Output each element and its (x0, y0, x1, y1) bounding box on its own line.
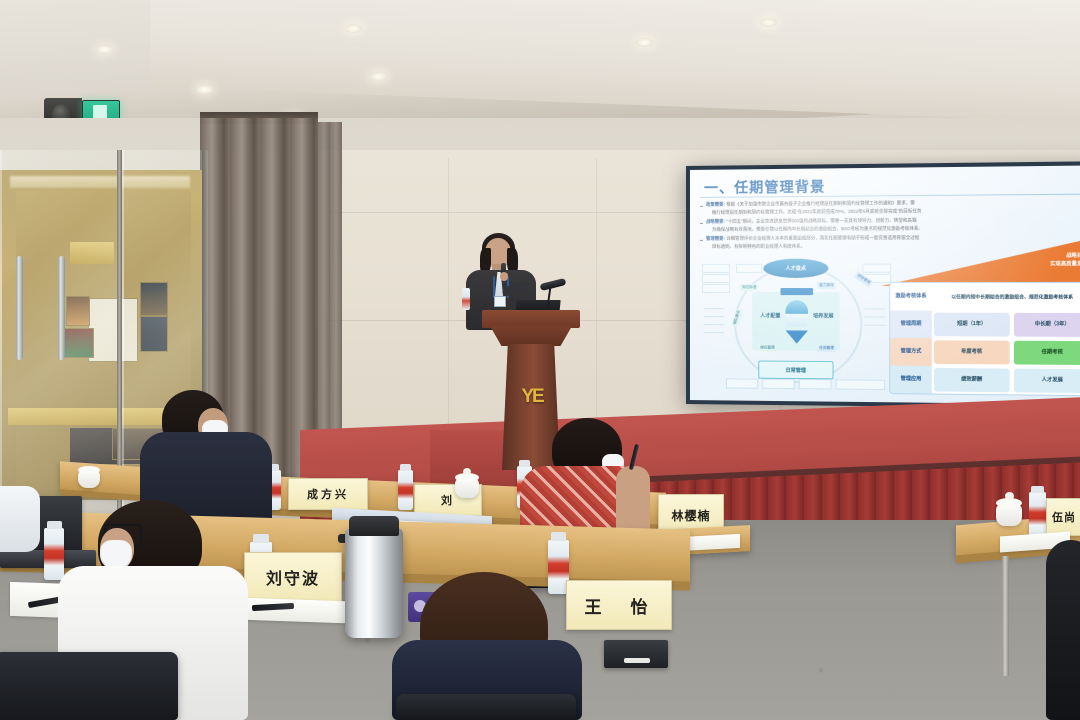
downlight (370, 72, 387, 81)
ghost-line (704, 324, 724, 325)
placard-name: 成方兴 (307, 486, 349, 502)
conference-room-photo: 一、任期管理背景 政策需要: 根据《关于加强市管企业市属各级子企业推行经理层任期… (0, 0, 1080, 720)
projection-screen: 一、任期管理背景 政策需要: 根据《关于加强市管企业市属各级子企业推行经理层任期… (686, 161, 1080, 408)
bottle-cap (551, 532, 566, 541)
podium-bevel (490, 326, 572, 346)
diagram-tag: 继任管理 (758, 344, 777, 351)
slide-table: 激励考核体系 以任期内短中长期结合的激励组合、规范化激励考核体系 管理周期 短期… (889, 282, 1080, 396)
pen (624, 658, 650, 663)
downlight (196, 85, 213, 94)
wall-seam-v (596, 158, 597, 458)
slide-bullet-3-text2: 目标透明、有鲜明特色的职业经理人制度体系。 (712, 244, 805, 251)
slide-surface: 一、任期管理背景 政策需要: 根据《关于加强市管企业市属各级子企业推行经理层任期… (690, 165, 1080, 404)
table-cell: 任期考核 (1014, 341, 1080, 365)
water-bottle (398, 470, 413, 510)
diagram-tag: 任用管理 (817, 345, 836, 352)
bottle-cap (1031, 486, 1044, 493)
thermos-lid (349, 516, 399, 536)
chair[interactable] (396, 694, 576, 720)
table-row-label: 管理方式 (890, 338, 932, 366)
attendee-right-edge (1046, 540, 1080, 720)
wall-seam-v (448, 158, 449, 458)
downlight (636, 38, 653, 47)
diagram-tag: 岗位标准 (740, 284, 759, 291)
water-bottle (1029, 492, 1046, 538)
podium-logo: YE (519, 386, 545, 408)
laptop[interactable] (604, 640, 668, 668)
speaker-badge (494, 296, 506, 307)
table-header-label: 激励考核体系 (890, 283, 932, 311)
banner-text: 战略目标 实现高质量发展 (1050, 253, 1080, 269)
banner-line-2: 实现高质量发展 (1050, 261, 1080, 269)
placard-name: 刘守波 (266, 565, 320, 589)
bottle-cap (47, 521, 62, 529)
attendee-far-left (0, 486, 40, 552)
slide-bullet-1-text2: 推行经理层任期制和契约化管理工作，达成"在2021年底前完成70%，2022年6… (712, 208, 922, 216)
ghost-line (864, 308, 885, 309)
diagram-tag: 能力测评 (817, 282, 836, 289)
slide-bullet-2-label: 战略需要: "十四五"期间，主业竞进跻身世界500强的战略目标，需要一支具有领导… (706, 218, 917, 226)
downlight (345, 24, 362, 33)
ghost-box (702, 274, 730, 283)
bullet-text: 根据《关于加强市管企业市属各级子企业推行经理层任期制和契约化管理工作的通知》要求… (726, 200, 915, 207)
placard-name: 林樱楠 (671, 507, 710, 524)
placard-liushoubo: 刘守波 (244, 552, 342, 602)
placard-name: 伍尚 (1052, 509, 1076, 525)
teacup-knob (463, 468, 471, 475)
bullet-marker (700, 240, 703, 241)
slide-bullet-1-label: 政策需要: 根据《关于加强市管企业市属各级子企业推行经理层任期制和契约化管理工作… (706, 200, 915, 208)
ghost-box (799, 379, 832, 389)
table-cell: 短期（1年） (934, 313, 1010, 337)
table-header-row: 激励考核体系 以任期内短中长期结合的激励组合、规范化激励考核体系 (890, 283, 1080, 311)
ghost-box (726, 378, 758, 388)
downlight (96, 45, 113, 54)
ghost-box (762, 379, 794, 389)
table-cell: 绩效薪酬 (934, 368, 1010, 392)
ghost-line (864, 317, 885, 318)
table-header-value: 以任期内短中长期结合的激励组合、规范化激励考核体系 (934, 285, 1080, 309)
bullet-label: 政策需要: (706, 202, 725, 207)
bottle-cap (253, 534, 269, 543)
ghost-line (864, 325, 885, 326)
table-cell: 年度考核 (934, 340, 1010, 364)
podium-top (482, 310, 580, 328)
placard-wushang: 伍尚 (1046, 498, 1080, 536)
banner-line-1: 战略目标 (1050, 253, 1080, 261)
thermos-flask (345, 528, 403, 638)
ghost-box (702, 284, 730, 293)
placard-wangyi: 王 怡 (566, 580, 672, 630)
table-row-label: 管理应用 (890, 366, 932, 394)
ghost-box (836, 379, 885, 390)
podium-bottle (462, 288, 470, 310)
diagram-node-top: 人才盘点 (763, 259, 828, 278)
bullet-text: "十四五"期间，主业竞进跻身世界500强的战略目标，需要一支具有领导力、创新力、… (726, 218, 916, 224)
ghost-line (704, 332, 724, 333)
teacup-knob (1005, 492, 1014, 500)
door-handle[interactable] (16, 256, 23, 360)
strategy-banner: 战略目标 实现高质量发展 (881, 238, 1080, 286)
ghost-box (702, 264, 730, 273)
ghost-line (704, 308, 724, 309)
placard-name: 王 怡 (585, 593, 654, 618)
diagram-bar-top (781, 288, 814, 295)
ghost-box (736, 264, 762, 273)
table-leg (1002, 556, 1009, 676)
speaker-hand (500, 272, 508, 281)
bullet-label: 战略需要: (706, 219, 725, 224)
bottle-cap (400, 464, 411, 471)
slide-title: 一、任期管理背景 (704, 177, 825, 198)
ghost-line (704, 316, 724, 317)
door-handle[interactable] (58, 256, 65, 360)
downlight (760, 18, 777, 27)
slide-bullet-2-text2: 为确保战略有效落地，需要在管以任期内中长期结合的激励组合、BSC考核为重点的规范… (712, 226, 920, 234)
table-row: 管理应用 绩效薪酬 人才发展 (890, 366, 1080, 396)
table-cell: 人才发展 (1014, 369, 1080, 394)
bottle-cap (519, 460, 530, 467)
diagram-node-left: 人才配置 (752, 312, 788, 319)
water-bottle (44, 528, 64, 580)
table-cell: 中长期（3年） (1014, 313, 1080, 337)
table-row-label: 管理周期 (890, 310, 932, 338)
diagram-arrow-down-icon (786, 330, 808, 343)
bullet-marker (700, 223, 703, 224)
bullet-label: 管理需要: (706, 236, 725, 241)
diagram-node-right: 培养发展 (805, 312, 842, 319)
bullet-marker (700, 206, 703, 207)
chair[interactable] (0, 652, 178, 720)
diagram-node-bottom: 日常管理 (758, 361, 833, 380)
table-row: 管理方式 年度考核 任期考核 (890, 338, 1080, 367)
placard-name: 刘 (441, 492, 455, 508)
placard-chengfangxing: 成方兴 (288, 478, 368, 510)
table-row: 管理周期 短期（1年） 中长期（3年） (890, 310, 1080, 339)
teacup-lid (78, 466, 100, 474)
